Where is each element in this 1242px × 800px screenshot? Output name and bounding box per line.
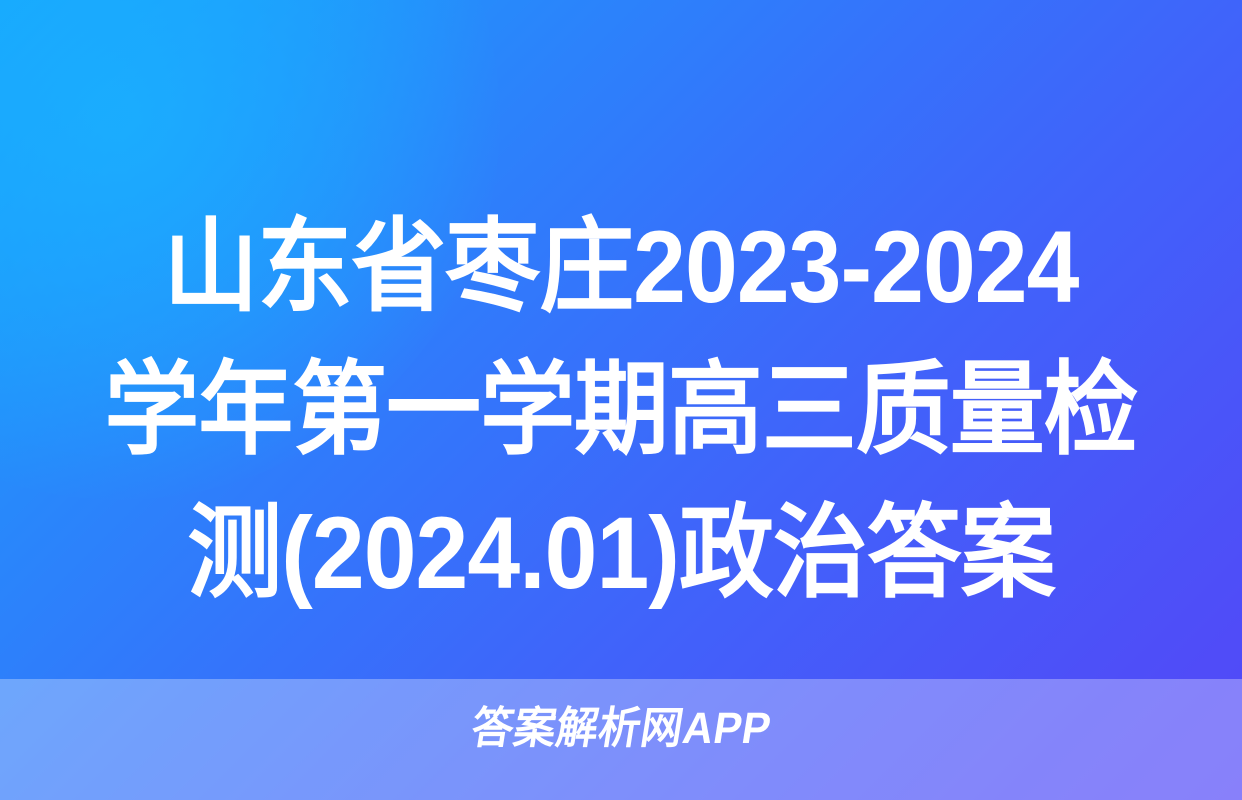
title-line-1: 山东省枣庄2023-2024 — [70, 196, 1173, 339]
title-line-2: 学年第一学期高三质量检 — [70, 339, 1173, 482]
watermark-label: 答案解析网APP — [467, 703, 774, 755]
exam-cover-banner: 山东省枣庄2023-2024 学年第一学期高三质量检 测(2024.01)政治答… — [0, 0, 1242, 800]
title-line-3: 测(2024.01)政治答案 — [70, 482, 1173, 625]
watermark: 答案解析网APP — [0, 703, 1242, 755]
banner-title: 山东省枣庄2023-2024 学年第一学期高三质量检 测(2024.01)政治答… — [0, 196, 1242, 625]
